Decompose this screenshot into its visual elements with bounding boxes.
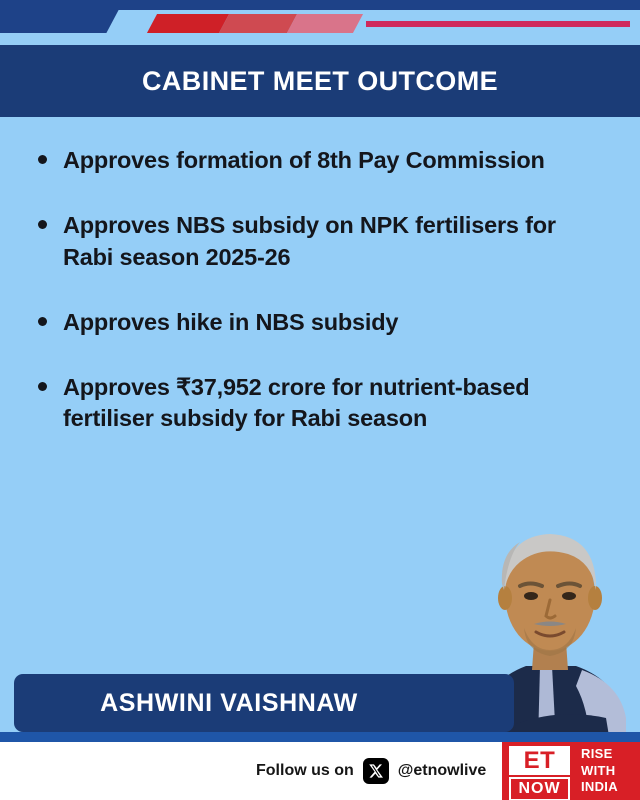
decor-parallelogram-pink xyxy=(287,14,363,33)
list-item: Approves NBS subsidy on NPK fertilisers … xyxy=(38,210,608,273)
news-graphic-card: CABINET MEET OUTCOME Approves formation … xyxy=(0,0,640,800)
decor-parallelogram-mid-red xyxy=(219,14,297,33)
person-name-banner: ASHWINI VAISHNAW xyxy=(14,674,514,732)
etnow-logo-et: ET xyxy=(509,746,570,775)
social-handle[interactable]: @etnowlive xyxy=(398,762,487,780)
bullet-dot-icon xyxy=(38,317,47,326)
page-title: CABINET MEET OUTCOME xyxy=(142,66,498,97)
list-item: Approves hike in NBS subsidy xyxy=(38,307,608,338)
person-name: ASHWINI VAISHNAW xyxy=(100,689,428,718)
follow-label: Follow us on xyxy=(256,762,354,780)
bullet-dot-icon xyxy=(38,382,47,391)
bullet-text: Approves ₹37,952 crore for nutrient-base… xyxy=(63,372,583,435)
tagline-line-2: WITH xyxy=(581,763,640,780)
bullet-text: Approves NBS subsidy on NPK fertilisers … xyxy=(63,210,583,273)
etnow-tagline: RISE WITH INDIA xyxy=(574,742,640,800)
follow-us-group: Follow us on @etnowlive xyxy=(256,758,486,784)
header-decoration xyxy=(0,0,640,45)
bullet-dot-icon xyxy=(38,220,47,229)
bullet-dot-icon xyxy=(38,155,47,164)
etnow-logo-mark: ET NOW ET NOW.IN xyxy=(502,742,574,800)
etnow-logo: ET NOW ET NOW.IN RISE WITH INDIA xyxy=(502,742,640,800)
bullet-text: Approves hike in NBS subsidy xyxy=(63,307,398,338)
decor-crimson-line xyxy=(366,21,630,27)
tagline-line-3: INDIA xyxy=(581,779,640,796)
decor-flat-band xyxy=(0,33,640,45)
footer-divider-rule xyxy=(0,732,640,742)
etnow-logo-now: NOW xyxy=(509,777,570,800)
bullet-text: Approves formation of 8th Pay Commission xyxy=(63,145,545,176)
x-twitter-icon[interactable] xyxy=(363,758,389,784)
bullet-list: Approves formation of 8th Pay Commission… xyxy=(38,145,608,469)
title-band: CABINET MEET OUTCOME xyxy=(0,45,640,117)
tagline-line-1: RISE xyxy=(581,746,640,763)
list-item: Approves ₹37,952 crore for nutrient-base… xyxy=(38,372,608,435)
list-item: Approves formation of 8th Pay Commission xyxy=(38,145,608,176)
footer-bar: Follow us on @etnowlive ET NOW ET NOW.IN… xyxy=(0,742,640,800)
decor-parallelogram-red xyxy=(147,14,229,33)
